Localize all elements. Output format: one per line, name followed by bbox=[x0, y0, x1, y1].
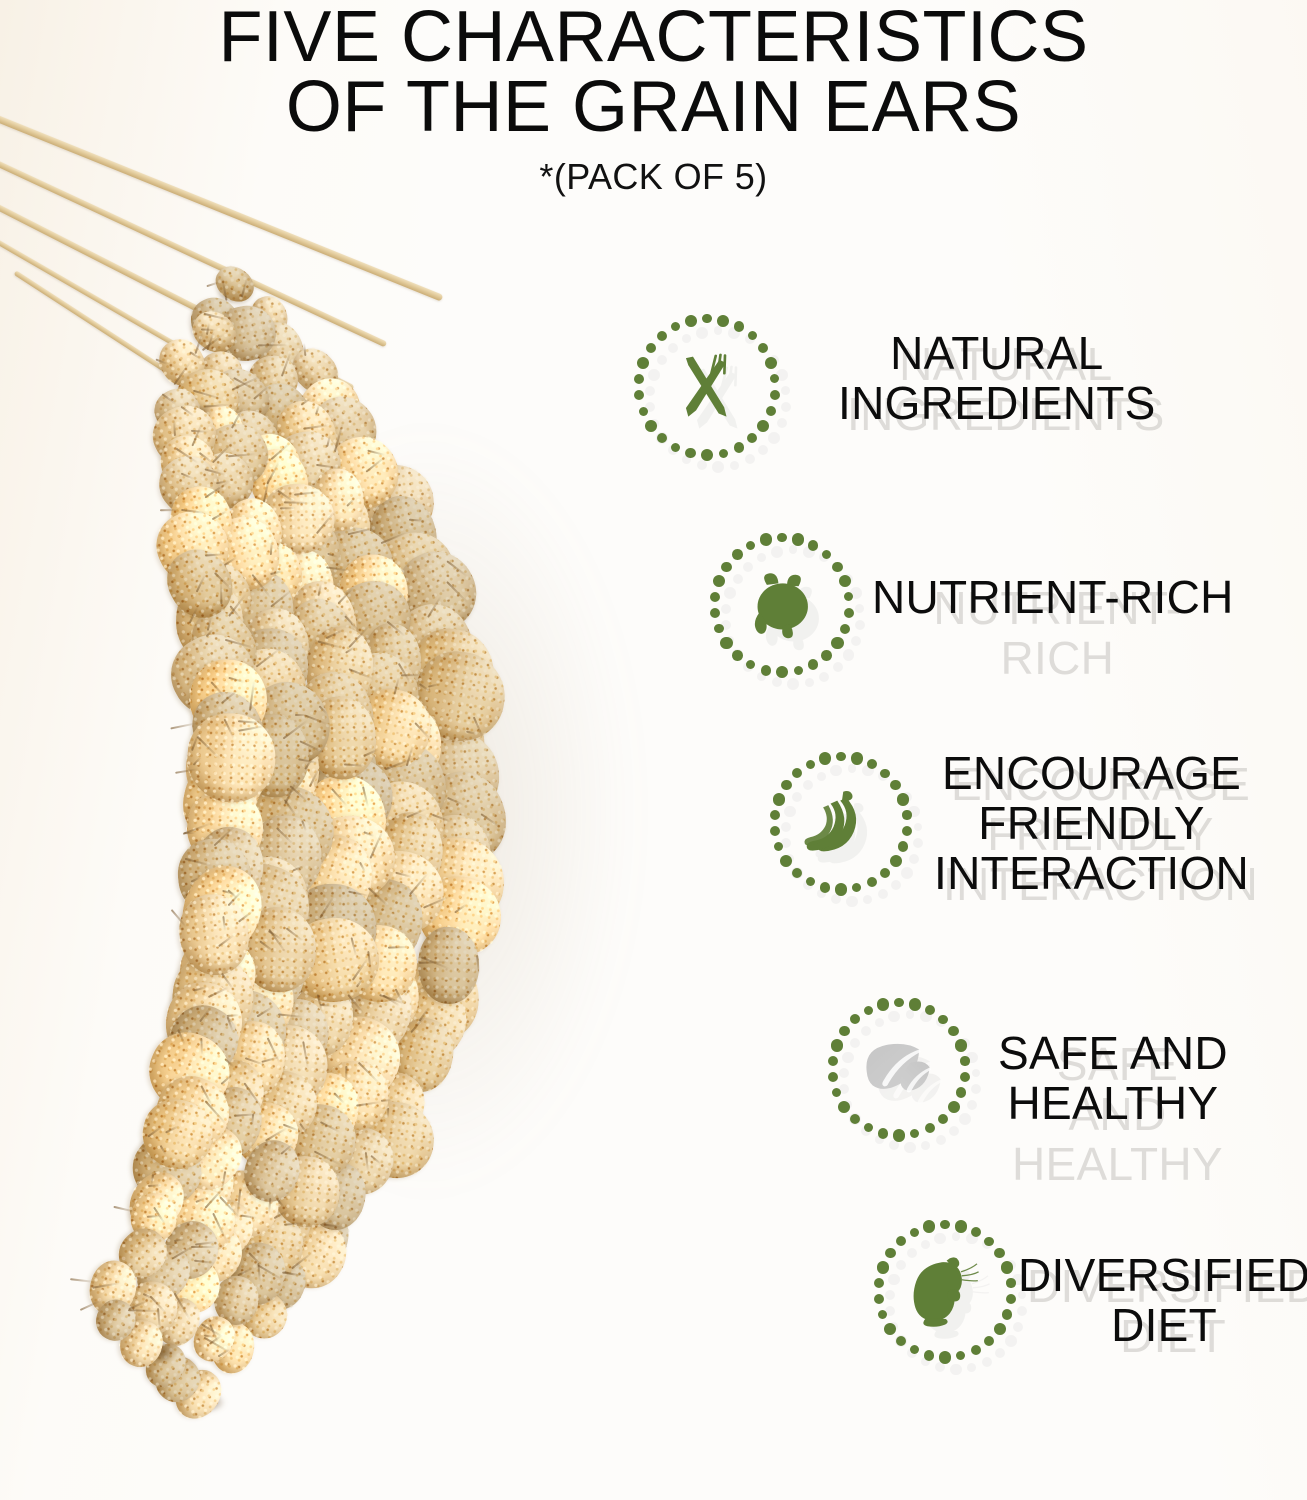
feature-label-ghost: NATURAL INGREDIENTS bbox=[847, 339, 1165, 439]
page-subtitle: *(PACK OF 5) bbox=[0, 156, 1307, 198]
leaf-icon bbox=[826, 996, 972, 1142]
sitting-hamster-icon bbox=[872, 1218, 1018, 1364]
feature-badge-nutrient-rich bbox=[708, 531, 856, 679]
feature-label-ghost: ENCOURAGE FRIENDLY INTERACTION bbox=[943, 759, 1258, 909]
feature-badge-diversified-diet bbox=[872, 1218, 1018, 1364]
header: FIVE CHARACTERISTICS OF THE GRAIN EARS *… bbox=[0, 0, 1307, 198]
page-title: FIVE CHARACTERISTICS OF THE GRAIN EARS bbox=[0, 0, 1307, 140]
feature-label-natural-ingredients: NATURAL INGREDIENTSNATURAL INGREDIENTS bbox=[838, 328, 1156, 428]
feature-badge-encourage-friendly-interaction bbox=[768, 750, 914, 896]
feature-list: NATURAL INGREDIENTSNATURAL INGREDIENTS bbox=[0, 0, 1307, 1500]
feature-label-nutrient-rich: NUTRIENT-RICHNUTRIENT-RICH bbox=[872, 572, 1234, 622]
infographic-canvas: FIVE CHARACTERISTICS OF THE GRAIN EARS *… bbox=[0, 0, 1307, 1500]
feature-badge-safe-and-healthy bbox=[826, 996, 972, 1142]
banana-icon bbox=[768, 750, 914, 896]
feature-badge-natural-ingredients bbox=[632, 312, 782, 462]
feature-label-ghost: SAFE AND HEALTHY bbox=[1007, 1039, 1228, 1189]
feature-label-safe-and-healthy: SAFE AND HEALTHYSAFE AND HEALTHY bbox=[998, 1028, 1228, 1128]
fork-knife-icon bbox=[632, 312, 782, 462]
feature-label-diversified-diet: DIVERSIFIED DIETDIVERSIFIED DIET bbox=[1018, 1250, 1307, 1350]
feature-label-ghost: NUTRIENT-RICH bbox=[881, 583, 1234, 683]
feature-label-ghost: DIVERSIFIED DIET bbox=[1027, 1261, 1307, 1361]
feature-label-encourage-friendly-interaction: ENCOURAGE FRIENDLY INTERACTIONENCOURAGE … bbox=[934, 748, 1249, 898]
title-line-1: FIVE CHARACTERISTICS bbox=[218, 0, 1088, 77]
title-line-2: OF THE GRAIN EARS bbox=[0, 74, 1307, 140]
hamster-icon bbox=[708, 531, 856, 679]
